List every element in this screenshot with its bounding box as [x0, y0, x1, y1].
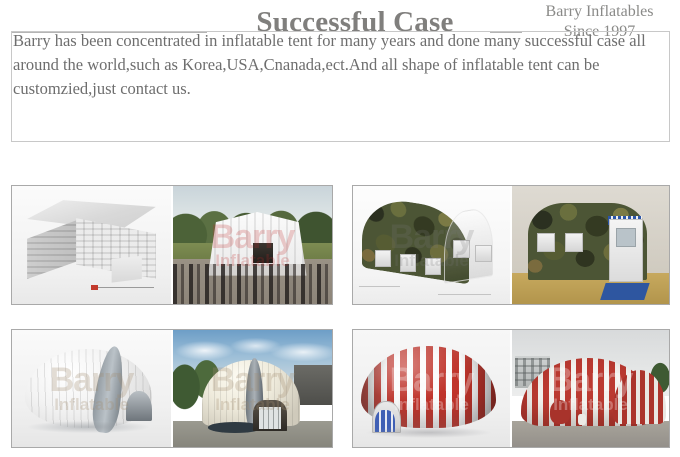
- dome-glass-doors: [259, 407, 281, 429]
- gallery-cell-white-cube-tent[interactable]: Barry Inflatable: [11, 185, 333, 305]
- photo-image-camouflage-tunnel-tent: [512, 186, 669, 304]
- camo-photo-window-2: [565, 233, 583, 252]
- cad-image-white-cube-tent: [12, 186, 171, 304]
- blue-floor-mat: [600, 283, 649, 300]
- cube-left-wall: [27, 220, 77, 279]
- cube-dimension-line: [98, 287, 154, 288]
- red-inflatable-accessory: [550, 400, 570, 423]
- gallery-cell-camouflage-tunnel-tent[interactable]: Barry Inflatable: [352, 185, 670, 305]
- crowd-of-people: [173, 264, 332, 304]
- photo-image-red-white-striped-dome-tent: Barry Inflatable: [512, 330, 669, 447]
- photo-image-white-cube-tent: Barry Inflatable: [173, 186, 332, 304]
- gallery-cell-white-dome-tent[interactable]: Barry Inflatable Barry Inflatable: [11, 329, 333, 448]
- cube-entrance-tunnel: [108, 256, 142, 283]
- cad-image-camouflage-tunnel-tent: Barry Inflatable: [353, 186, 510, 304]
- camo-window-4: [453, 240, 469, 257]
- camo-photo-window-1: [537, 233, 555, 252]
- cube-tent-render: [22, 200, 162, 290]
- intro-paragraph: Barry has been concentrated in inflatabl…: [13, 29, 647, 101]
- camo-window-1: [375, 250, 391, 267]
- cad-image-red-white-striped-dome-tent: Barry Inflatable: [353, 330, 510, 447]
- case-gallery-grid: Barry Inflatable Barry Inflatable: [11, 185, 670, 448]
- camo-door-window: [616, 228, 637, 247]
- camo-window-2: [400, 254, 416, 271]
- camo-dimension-line-right: [438, 294, 491, 295]
- brand-name: Barry Inflatables: [527, 2, 672, 21]
- white-object: [578, 414, 586, 425]
- dome-base-shadow: [28, 421, 149, 433]
- dome-entrance: [126, 391, 151, 421]
- camo-window-3: [425, 258, 441, 275]
- camo-window-5: [475, 245, 491, 262]
- gallery-cell-red-white-striped-dome-tent[interactable]: Barry Inflatable Barry Inflatable: [352, 329, 670, 448]
- tent-entrance: [253, 243, 273, 263]
- camo-dimension-line-left: [359, 286, 400, 287]
- photo-image-white-dome-tent: Barry Inflatable: [173, 330, 332, 447]
- cad-image-white-dome-tent: Barry Inflatable: [12, 330, 171, 447]
- cube-dimension-marker: [91, 285, 98, 290]
- striped-dome-base-shadow: [366, 427, 492, 438]
